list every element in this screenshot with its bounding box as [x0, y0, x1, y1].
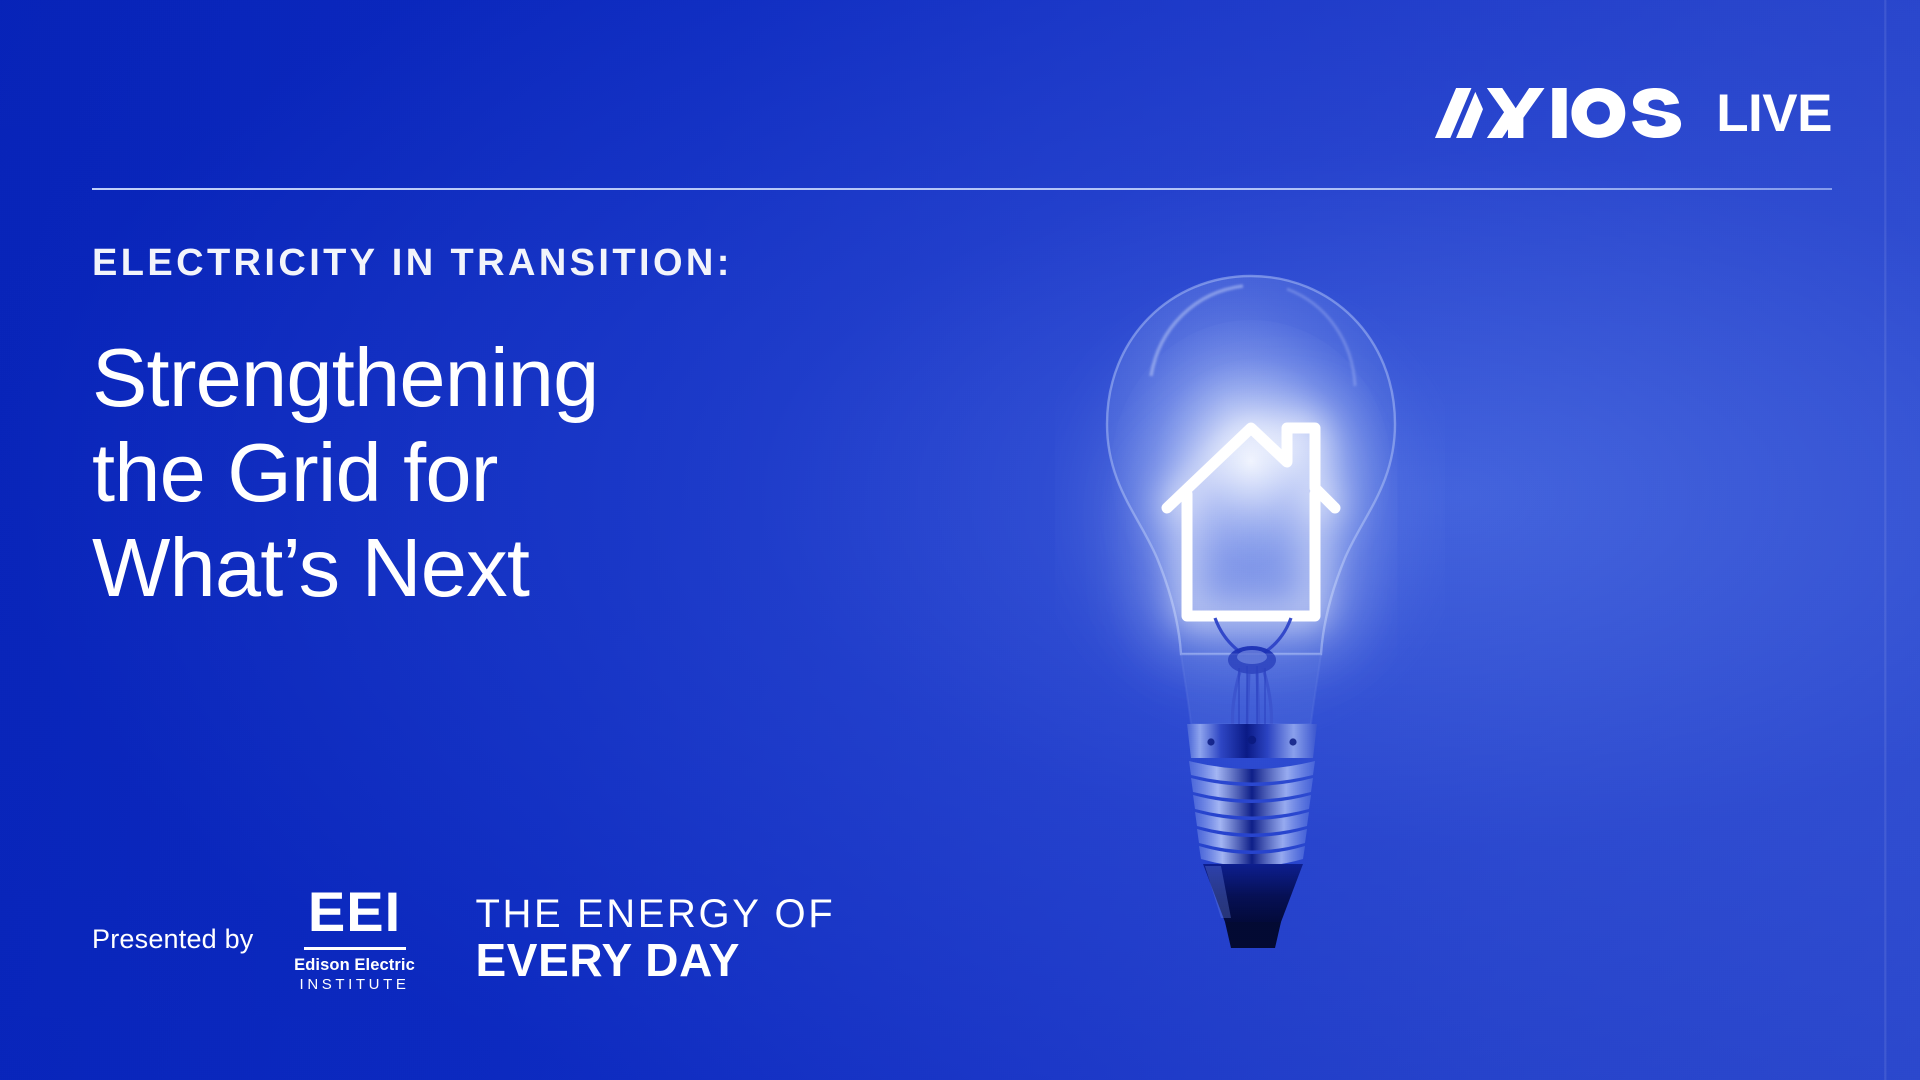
- energy-of-every-day-line-1: THE ENERGY OF: [476, 894, 836, 935]
- eei-rule: [304, 947, 406, 950]
- eei-name-line-1: Edison Electric: [294, 956, 415, 975]
- headline-line-3: What’s Next: [92, 520, 598, 615]
- header-divider: [92, 188, 1832, 190]
- house-filament-icon: [1167, 428, 1335, 616]
- headline-line-1: Strengthening: [92, 330, 598, 425]
- lightbulb-artwork: [1055, 258, 1445, 948]
- bulb-glass: [1107, 276, 1395, 654]
- bulb-screw-base: [1187, 724, 1317, 948]
- eei-acronym: EEI: [308, 885, 401, 940]
- composite-seam: [1884, 0, 1887, 1080]
- screw-threads: [1189, 761, 1315, 867]
- eyebrow-text: ELECTRICITY IN TRANSITION:: [92, 244, 733, 282]
- eei-name-line-2: INSTITUTE: [300, 975, 410, 995]
- axios-wordmark-icon: [1433, 88, 1695, 138]
- sponsor-logo-energy-of-every-day[interactable]: THE ENERGY OF EVERY DAY: [476, 894, 836, 984]
- sponsor-logo-eei[interactable]: EEI Edison Electric INSTITUTE: [296, 885, 414, 994]
- live-label: LIVE: [1716, 87, 1832, 140]
- energy-of-every-day-line-2: EVERY DAY: [476, 937, 836, 984]
- slide-canvas: LIVE ELECTRICITY IN TRANSITION: Strength…: [0, 0, 1920, 1080]
- axios-live-logo[interactable]: LIVE: [1433, 84, 1832, 142]
- page-title: Strengthening the Grid for What’s Next: [92, 330, 598, 615]
- headline-line-2: the Grid for: [92, 425, 598, 520]
- presented-by-lockup: Presented by EEI Edison Electric INSTITU…: [92, 888, 835, 992]
- presented-by-label: Presented by: [92, 924, 254, 955]
- filament-support-wires: [1215, 618, 1291, 732]
